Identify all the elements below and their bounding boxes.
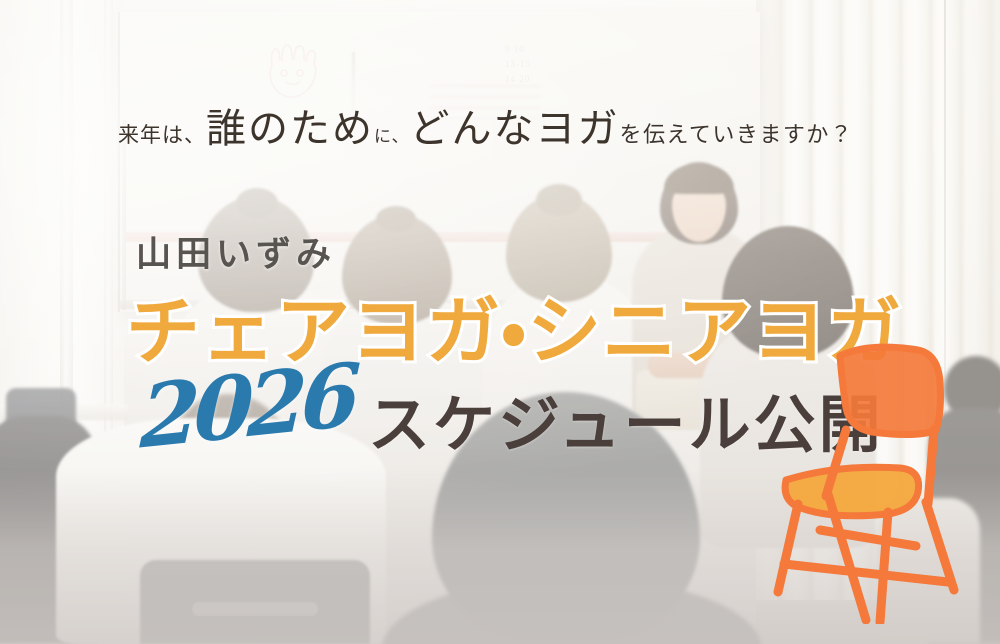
yoga-schedule-banner: 9 10 13-15 14 20 xyxy=(0,0,1000,644)
board-text-part4: どんなヨガ xyxy=(410,96,620,154)
board-text-part3: に、 xyxy=(374,122,410,147)
instructor-name: 山田いずみ xyxy=(136,226,336,277)
board-text-part2: 誰のため xyxy=(206,96,374,154)
board-text-part5: を伝えていきますか？ xyxy=(620,117,854,149)
board-text-part1: 来年は、 xyxy=(118,119,206,149)
folding-chair-icon xyxy=(768,334,968,624)
whiteboard-question-text: 来年は、 誰のため に、 どんなヨガ を伝えていきますか？ xyxy=(118,96,888,158)
